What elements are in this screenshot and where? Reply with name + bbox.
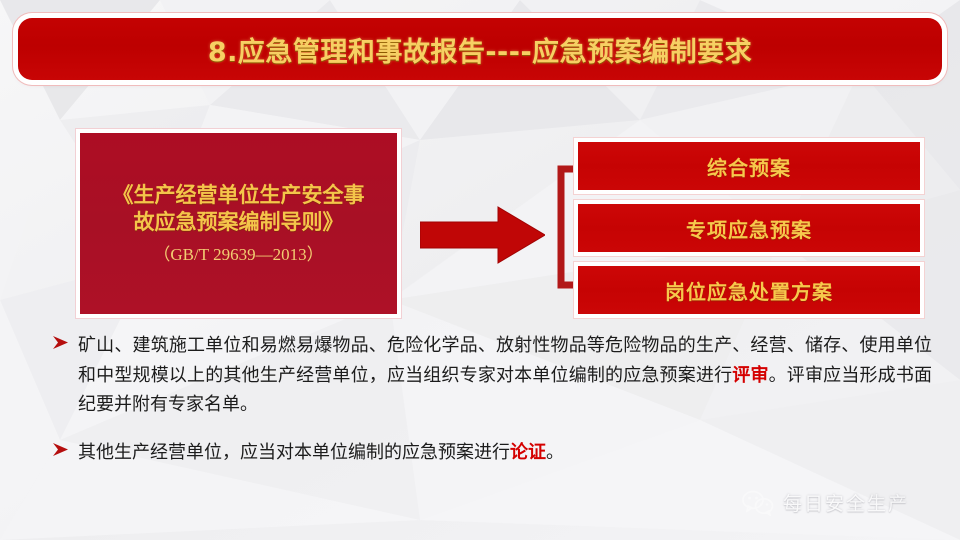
wechat-icon xyxy=(742,490,774,516)
bullet-2-segment-2: 。 xyxy=(546,442,564,463)
watermark-text: 每日安全生产 xyxy=(783,489,909,516)
plan-box-label: 专项应急预案 xyxy=(686,214,812,243)
bullet-2-segment-0: 其他生产经营单位，应当对本单位编制的应急预案进行 xyxy=(78,442,510,463)
chevron-arrow-bullet-icon xyxy=(52,331,78,355)
plan-box-label: 岗位应急处置方案 xyxy=(665,276,833,305)
list-item: 矿山、建筑施工单位和易燃易爆物品、危险化学品、放射性物品等危险物品的生产、经营、… xyxy=(52,331,932,420)
slide-canvas: 8.应急管理和事故报告----应急预案编制要求 《生产经营单位生产安全事 故应急… xyxy=(0,0,960,540)
list-item: 其他生产经营单位，应当对本单位编制的应急预案进行论证。 xyxy=(52,438,932,468)
standard-reference-box: 《生产经营单位生产安全事 故应急预案编制导则》 （GB/T 29639—2013… xyxy=(80,133,397,314)
left-brace-icon xyxy=(553,165,579,289)
watermark: 每日安全生产 xyxy=(742,489,909,516)
plan-box-special-emergency: 专项应急预案 xyxy=(578,204,920,252)
bullet-text: 其他生产经营单位，应当对本单位编制的应急预案进行论证。 xyxy=(78,438,932,468)
bullet-2-highlight: 论证 xyxy=(510,442,546,463)
bullet-1-highlight: 评审 xyxy=(732,365,768,386)
right-arrow-icon xyxy=(420,205,545,265)
plan-box-onsite-disposal: 岗位应急处置方案 xyxy=(578,266,920,314)
plan-box-comprehensive: 综合预案 xyxy=(578,142,920,190)
standard-code: （GB/T 29639—2013） xyxy=(153,240,323,265)
bullet-text: 矿山、建筑施工单位和易燃易爆物品、危险化学品、放射性物品等危险物品的生产、经营、… xyxy=(78,331,932,420)
standard-name-line-2: 故应急预案编制导则》 xyxy=(134,209,344,235)
chevron-arrow-bullet-icon xyxy=(52,438,78,462)
page-title: 8.应急管理和事故报告----应急预案编制要求 xyxy=(208,30,752,69)
slide-title-banner: 8.应急管理和事故报告----应急预案编制要求 xyxy=(18,18,942,80)
plan-box-label: 综合预案 xyxy=(707,152,791,181)
standard-name-line-1: 《生产经营单位生产安全事 xyxy=(113,182,365,208)
bullet-list: 矿山、建筑施工单位和易燃易爆物品、危险化学品、放射性物品等危险物品的生产、经营、… xyxy=(52,331,932,478)
